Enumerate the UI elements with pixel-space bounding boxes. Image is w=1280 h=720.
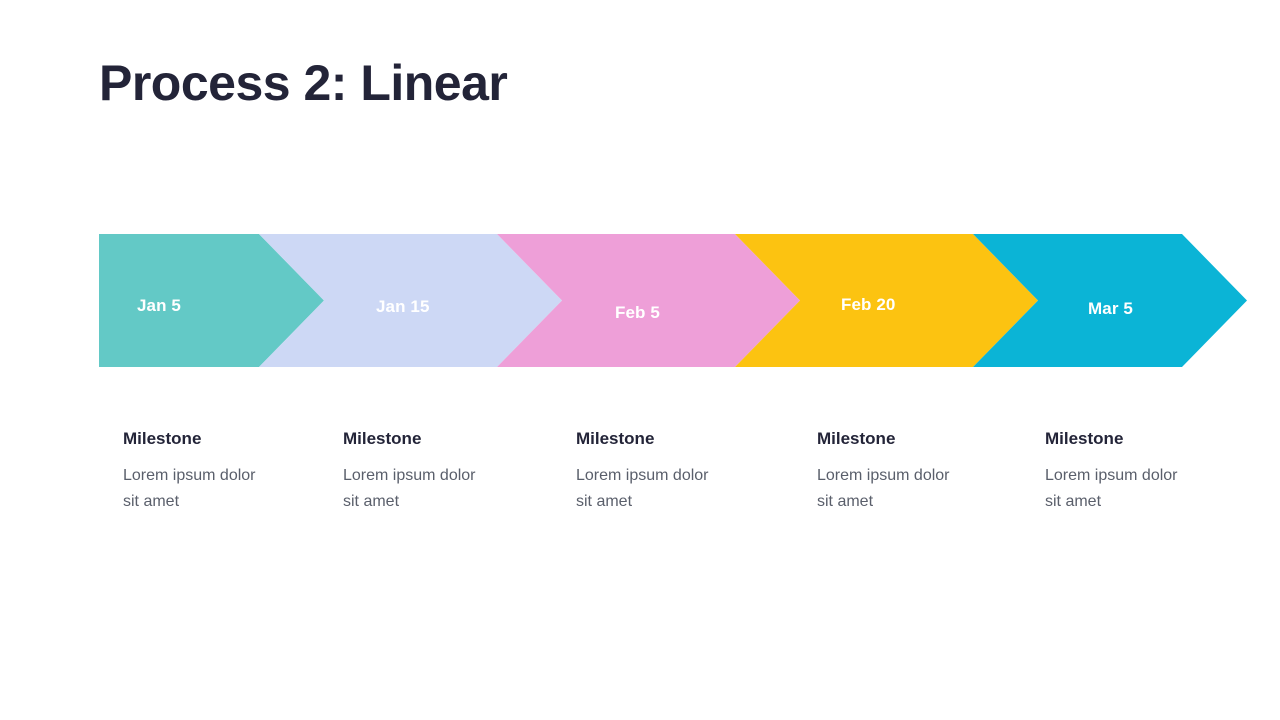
milestone-title-2: Milestone — [343, 428, 573, 450]
milestone-item-5: Milestone Lorem ipsum dolor sit amet — [1045, 428, 1275, 515]
milestone-body-5: Lorem ipsum dolor sit amet — [1045, 463, 1195, 515]
milestone-item-4: Milestone Lorem ipsum dolor sit amet — [817, 428, 1047, 515]
milestone-body-3: Lorem ipsum dolor sit amet — [576, 463, 726, 515]
milestone-body-1: Lorem ipsum dolor sit amet — [123, 463, 273, 515]
chevron-label-3: Feb 5 — [615, 303, 660, 323]
milestone-title-5: Milestone — [1045, 428, 1275, 450]
chevron-label-5: Mar 5 — [1088, 299, 1133, 319]
milestone-body-2: Lorem ipsum dolor sit amet — [343, 463, 493, 515]
chevron-label-4: Feb 20 — [841, 295, 895, 315]
milestone-list: Milestone Lorem ipsum dolor sit amet Mil… — [0, 428, 1280, 538]
milestone-body-4: Lorem ipsum dolor sit amet — [817, 463, 967, 515]
milestone-title-3: Milestone — [576, 428, 806, 450]
milestone-item-1: Milestone Lorem ipsum dolor sit amet — [123, 428, 353, 515]
milestone-title-1: Milestone — [123, 428, 353, 450]
slide-canvas: Process 2: Linear Jan 5 Jan 15 Feb 5 Feb… — [0, 0, 1280, 720]
chevron-label-1: Jan 5 — [137, 296, 181, 316]
chevron-label-2: Jan 15 — [376, 297, 430, 317]
milestone-item-3: Milestone Lorem ipsum dolor sit amet — [576, 428, 806, 515]
process-chevron-band: Jan 5 Jan 15 Feb 5 Feb 20 Mar 5 — [99, 234, 1247, 367]
page-title: Process 2: Linear — [99, 52, 507, 114]
milestone-title-4: Milestone — [817, 428, 1047, 450]
milestone-item-2: Milestone Lorem ipsum dolor sit amet — [343, 428, 573, 515]
